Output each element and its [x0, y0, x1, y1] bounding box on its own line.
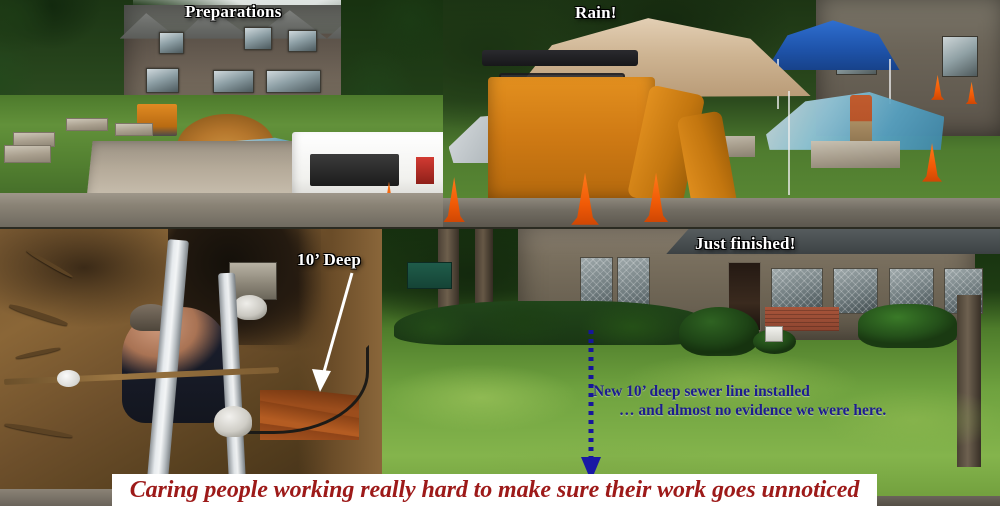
photo-panel-preparations: Preparations — [0, 0, 443, 227]
sewer-line-pointer-arrow — [382, 229, 1000, 506]
house-window — [159, 32, 183, 54]
canopy-pole — [889, 59, 891, 104]
photo-panel-rain: Rain! — [443, 0, 1000, 227]
house-window — [146, 68, 179, 93]
photo-collage: Preparations Rain! — [0, 0, 1000, 506]
caption-text: Caring people working really hard to mak… — [130, 477, 860, 503]
house-window — [244, 27, 273, 49]
photo-panel-ten-foot-deep: 10’ Deep — [0, 229, 382, 506]
house-window — [213, 70, 255, 92]
white-debris — [57, 370, 80, 387]
house-window — [288, 30, 317, 52]
work-glove — [233, 295, 267, 320]
ground-protection-plate — [811, 141, 900, 168]
street-asphalt — [0, 193, 443, 227]
ground-protection-plate — [4, 145, 50, 163]
worker-orange-shirt — [850, 95, 872, 145]
house-window — [942, 36, 977, 77]
ground-protection-plate — [115, 123, 152, 136]
caption-banner: Caring people working really hard to mak… — [112, 474, 877, 506]
street-asphalt — [443, 198, 1000, 228]
truck-bed-equipment — [310, 154, 399, 186]
excavator-canopy-roof — [482, 50, 638, 66]
house-window — [266, 70, 321, 92]
canopy-pole — [788, 91, 790, 195]
work-glove — [214, 406, 252, 436]
ground-protection-plate — [66, 118, 108, 131]
photo-panel-just-finished: New 10’ deep sewer line installed … and … — [382, 229, 1000, 506]
truck-taillight — [416, 157, 434, 184]
